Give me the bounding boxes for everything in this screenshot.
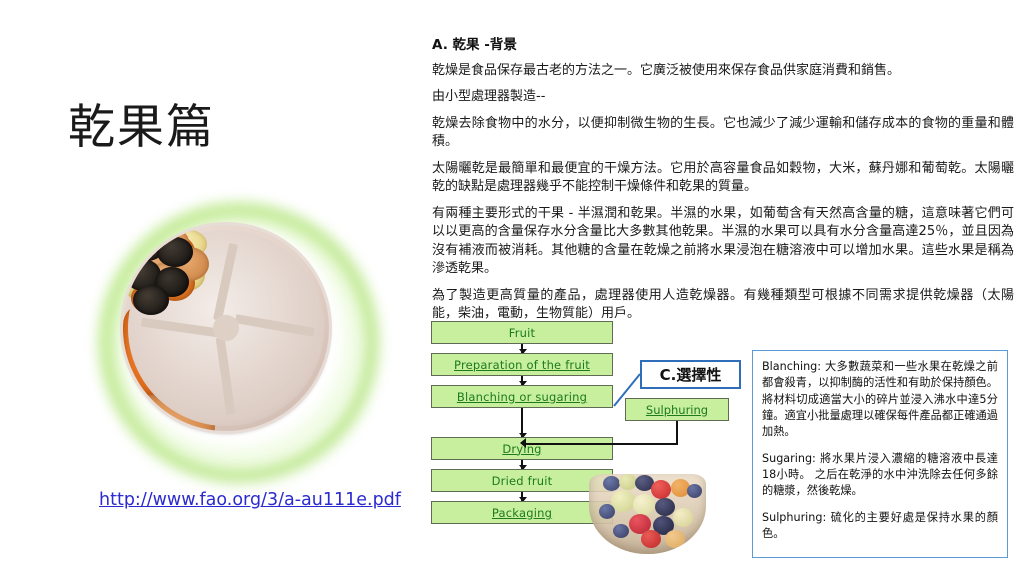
definition-sulphuring: Sulphuring: 硫化的主要好處是保持水果的顏色。 <box>762 510 998 543</box>
tray-center-hub <box>213 315 239 341</box>
definition-sugaring: Sugaring: 將水果片浸入濃縮的糖溶液中長達18小時。 之后在乾淨的水中沖… <box>762 451 998 500</box>
flow-step-dried-fruit-label: Dried fruit <box>492 474 553 488</box>
paragraph-4: 太陽曬乾是最簡單和最便宜的干燥方法。它用於高容量食品如穀物，大米，蘇丹娜和葡萄乾… <box>432 160 1014 197</box>
source-link[interactable]: http://www.fao.org/3/a-au111e.pdf <box>99 490 401 510</box>
flow-arrow-1 <box>431 344 613 353</box>
definition-blanching: Blanching: 大多數蔬菜和一些水果在乾燥之前都會殺青，以抑制酶的活性和有… <box>762 359 998 441</box>
paragraph-1: 乾燥是食品保存最古老的方法之一。它廣泛被使用來保存食品供家庭消費和銷售。 <box>432 62 1014 80</box>
berry-strawberry <box>651 480 671 499</box>
berry-blackberry-2 <box>655 498 675 516</box>
berry-blueberry-4 <box>613 524 629 538</box>
flow-arrow-3 <box>431 408 613 437</box>
dried-fruit-platter-image <box>78 192 370 478</box>
section-heading: A. 乾果 -背景 <box>432 33 1014 53</box>
sulphuring-connector-vertical <box>676 421 678 445</box>
paragraph-2: 由小型處理器製造-- <box>432 88 1014 106</box>
paragraph-5: 有兩種主要形式的干果 - 半濕潤和乾果。半濕的水果，如葡萄含有天然高含量的糖，這… <box>432 205 1014 279</box>
flow-step-fruit-label: Fruit <box>509 326 536 340</box>
callout-label: C.選擇性 <box>660 364 722 385</box>
berry-blueberry <box>603 476 620 491</box>
article-body: A. 乾果 -背景 乾燥是食品保存最古老的方法之一。它廣泛被使用來保存食品供家庭… <box>432 33 1014 331</box>
sulphuring-connector-arrowhead <box>520 438 526 448</box>
flow-step-packaging-label: Packaging <box>492 506 552 520</box>
berry-melon-yellow <box>673 508 693 527</box>
slide-canvas: 乾果篇 <box>0 0 1024 576</box>
mixed-fruit-bowl-image <box>585 452 710 556</box>
bowl-glass <box>589 474 706 554</box>
callout-optional-step: C.選擇性 <box>640 360 741 389</box>
flow-step-blanching[interactable]: Blanching or sugaring <box>431 385 613 408</box>
paragraph-3: 乾燥去除食物中的水分，以便抑制微生物的生長。它也減少了減少運輸和儲存成本的食物的… <box>432 115 1014 152</box>
flow-step-preparation-label: Preparation of the fruit <box>454 358 590 372</box>
definitions-panel: Blanching: 大多數蔬菜和一些水果在乾燥之前都會殺青，以抑制酶的活性和有… <box>752 350 1008 558</box>
berry-melon-pale-2 <box>633 494 655 515</box>
flow-step-sulphuring-label: Sulphuring <box>646 403 708 417</box>
berry-blueberry-2 <box>687 484 702 498</box>
flow-step-preparation[interactable]: Preparation of the fruit <box>431 353 613 376</box>
paragraph-6: 為了製造更高質量的產品，處理器使用人造乾燥器。有幾種類型可根據不同需求提供乾燥器… <box>432 287 1014 324</box>
callout-leader-line <box>612 372 642 408</box>
page-title: 乾果篇 <box>68 101 215 155</box>
flow-step-blanching-label: Blanching or sugaring <box>457 390 587 404</box>
platter-tray <box>123 225 329 431</box>
berry-strawberry-2 <box>641 530 661 548</box>
flow-step-fruit[interactable]: Fruit <box>431 321 613 344</box>
sulphuring-connector-horizontal <box>524 443 678 445</box>
berry-melon-orange-2 <box>665 530 685 548</box>
flow-arrow-2 <box>431 376 613 385</box>
berry-blueberry-3 <box>599 504 615 519</box>
